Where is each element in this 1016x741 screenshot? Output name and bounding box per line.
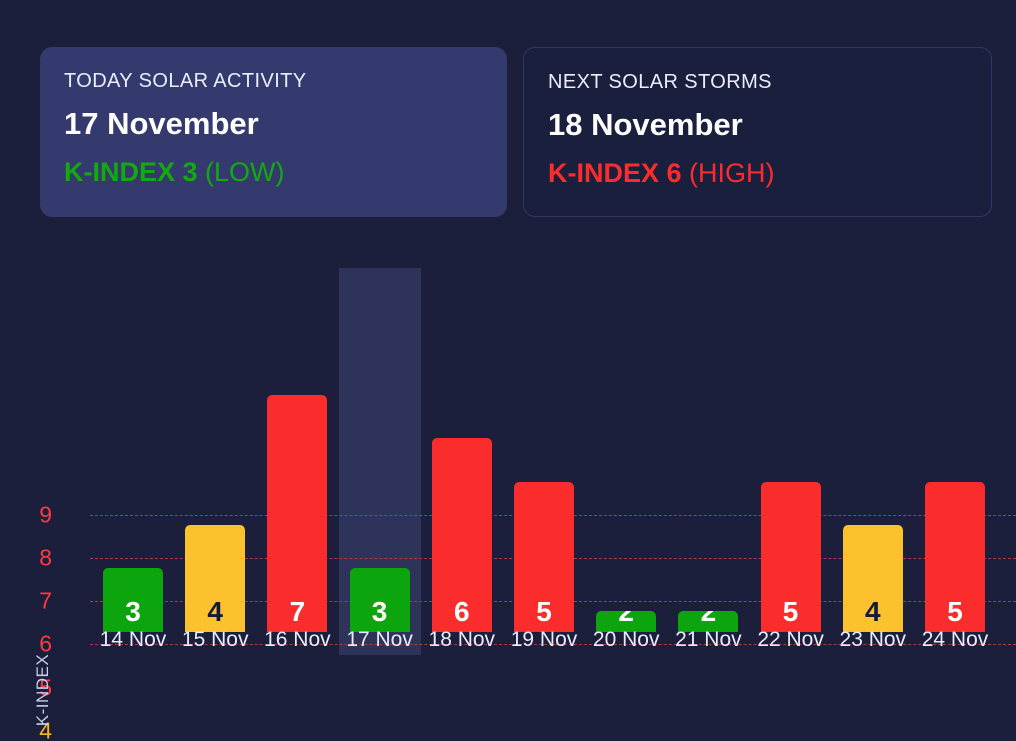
chart-bar[interactable]: 5 (761, 482, 821, 633)
card-k-index-level: (HIGH) (689, 158, 774, 188)
card-k-index-level: (LOW) (205, 157, 284, 187)
chart-bar-value-label: 4 (185, 597, 245, 627)
chart-bar[interactable]: 4 (185, 525, 245, 632)
y-axis-tick: 8 (39, 547, 52, 570)
chart-bar-value-label: 4 (843, 597, 903, 627)
y-axis-tick: 7 (39, 590, 52, 613)
chart-bar-value-label: 7 (267, 597, 327, 627)
x-axis-tick: 19 Nov (503, 625, 585, 655)
chart-bar[interactable]: 4 (843, 525, 903, 632)
x-axis-tick: 17 Nov (339, 625, 421, 655)
x-axis-tick: 23 Nov (832, 625, 914, 655)
chart-bar[interactable]: 3 (350, 568, 410, 632)
y-axis-title-label: K-INDEX (33, 653, 53, 725)
card-title: TODAY SOLAR ACTIVITY (64, 69, 483, 93)
chart-bar-value-label: 5 (514, 597, 574, 627)
solar-activity-widget: TODAY SOLAR ACTIVITY 17 November K-INDEX… (0, 0, 1016, 741)
chart-bar-value-label: 5 (925, 597, 985, 627)
x-axis-tick: 14 Nov (92, 625, 174, 655)
chart-bar-value-label: 6 (432, 597, 492, 627)
k-index-bar-chart: 987654321 34736522545 14 Nov15 Nov16 Nov… (0, 230, 1016, 741)
y-axis-title: K-INDEX (28, 642, 58, 737)
chart-plot-area: 34736522545 (62, 230, 1016, 655)
card-k-index: K-INDEX 3 (LOW) (64, 156, 483, 188)
y-axis-tick-labels: 987654321 (0, 230, 62, 655)
x-axis-tick: 15 Nov (174, 625, 256, 655)
chart-bar-value-label: 3 (103, 597, 163, 627)
card-k-index: K-INDEX 6 (HIGH) (548, 157, 967, 189)
y-axis-tick: 9 (39, 504, 52, 527)
x-axis-tick: 22 Nov (750, 625, 832, 655)
chart-bar[interactable]: 7 (267, 395, 327, 632)
chart-bar[interactable]: 5 (925, 482, 985, 633)
card-k-index-value: K-INDEX 3 (64, 157, 198, 187)
card-k-index-value: K-INDEX 6 (548, 158, 682, 188)
chart-bar[interactable]: 6 (432, 438, 492, 632)
chart-bar[interactable]: 3 (103, 568, 163, 632)
x-axis-tick: 20 Nov (585, 625, 667, 655)
chart-bar[interactable]: 5 (514, 482, 574, 633)
x-axis-tick: 24 Nov (914, 625, 996, 655)
card-title: NEXT SOLAR STORMS (548, 70, 967, 94)
chart-bar-value-label: 3 (350, 597, 410, 627)
card-date: 18 November (548, 107, 967, 143)
chart-bar-value-label: 5 (761, 597, 821, 627)
card-next-solar-storms[interactable]: NEXT SOLAR STORMS 18 November K-INDEX 6 … (523, 47, 992, 217)
card-date: 17 November (64, 106, 483, 142)
x-axis-tick-labels: 14 Nov15 Nov16 Nov17 Nov18 Nov19 Nov20 N… (62, 625, 1016, 661)
x-axis-tick: 21 Nov (667, 625, 749, 655)
x-axis-tick: 16 Nov (256, 625, 338, 655)
card-today-solar-activity[interactable]: TODAY SOLAR ACTIVITY 17 November K-INDEX… (40, 47, 507, 217)
x-axis-tick: 18 Nov (421, 625, 503, 655)
summary-cards: TODAY SOLAR ACTIVITY 17 November K-INDEX… (40, 47, 992, 217)
